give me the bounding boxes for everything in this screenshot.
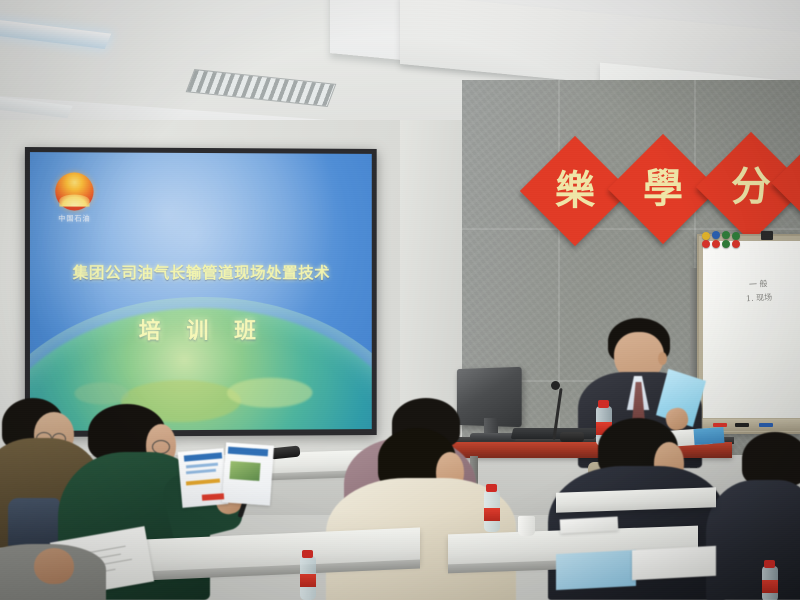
bottle-label-front-left	[300, 574, 316, 587]
magnet-green[interactable]	[722, 231, 730, 239]
bottle-cap-front-right	[764, 560, 775, 568]
placard-char-1: 樂	[536, 152, 614, 230]
slide-title-line2: 培 训 班	[30, 313, 372, 345]
placard-char-4: 享	[786, 148, 800, 218]
ceiling-air-vent	[186, 69, 337, 107]
paper-cup	[518, 516, 535, 536]
whiteboard-note-line2: 1. 现场	[746, 292, 792, 304]
slide-globe-landmass-c	[74, 382, 128, 404]
microphone-base	[560, 432, 584, 442]
binder-clip-icon[interactable]	[761, 231, 773, 240]
whiteboard-magnets[interactable]	[702, 230, 746, 248]
projection-screen: 中国石油 集团公司油气长输管道现场处置技术 培 训 班	[30, 152, 372, 431]
whiteboard[interactable]: 一 般 1. 现场	[697, 234, 800, 434]
attendee-olive-arm	[8, 498, 60, 546]
presenter-ear	[658, 352, 667, 365]
cnpc-logo: 中国石油	[52, 172, 96, 224]
attendee-dark-right-suit	[706, 480, 800, 600]
lecture-hall-photo: 中国石油 集团公司油气长输管道现场处置技术 培 训 班 樂 學 分 享 一 般 …	[0, 0, 800, 600]
handout-papers-front-right[interactable]	[632, 546, 716, 580]
magnet-yellow[interactable]	[702, 232, 710, 240]
blue-handout-front[interactable]	[556, 550, 636, 590]
whiteboard-surface[interactable]: 一 般 1. 现场	[703, 241, 800, 418]
magnet-red[interactable]	[702, 240, 710, 248]
monitor-stand-base	[470, 433, 516, 441]
water-bottle-front-right	[762, 566, 778, 600]
marker-black[interactable]	[735, 423, 749, 427]
attendee-dark-right-hair	[742, 432, 800, 486]
slide-title-line1: 集团公司油气长输管道现场处置技术	[30, 261, 372, 283]
water-bottle-front-left	[300, 556, 316, 600]
bottle-cap-mid	[486, 484, 497, 492]
podium-folder	[693, 427, 724, 445]
bottle-label-front-right	[762, 580, 778, 593]
magnet-green-3[interactable]	[722, 240, 730, 248]
placard-char-2: 學	[624, 150, 702, 228]
projection-screen-frame: 中国石油 集团公司油气长输管道现场处置技术 培 训 班	[25, 147, 377, 437]
magnet-green-2[interactable]	[732, 232, 740, 240]
water-bottle-mid	[484, 490, 500, 532]
open-booklet[interactable]	[180, 444, 272, 506]
recessed-fluorescent-light	[0, 19, 111, 49]
magnet-red-3[interactable]	[732, 240, 740, 248]
bottle-cap	[598, 400, 609, 408]
whiteboard-note-line1: 一 般	[749, 278, 795, 290]
bottle-cap-front-left	[302, 550, 313, 558]
booklet-photo	[229, 461, 260, 481]
marker-blue[interactable]	[759, 423, 773, 427]
magnet-red-2[interactable]	[712, 240, 720, 248]
cnpc-logo-caption: 中国石油	[52, 214, 96, 224]
attendee-front-left-hand	[34, 548, 74, 584]
bottle-label-mid	[484, 508, 500, 521]
microphone-head-icon	[551, 381, 560, 390]
cnpc-sunray-icon	[59, 194, 89, 206]
magnet-blue[interactable]	[712, 231, 720, 239]
